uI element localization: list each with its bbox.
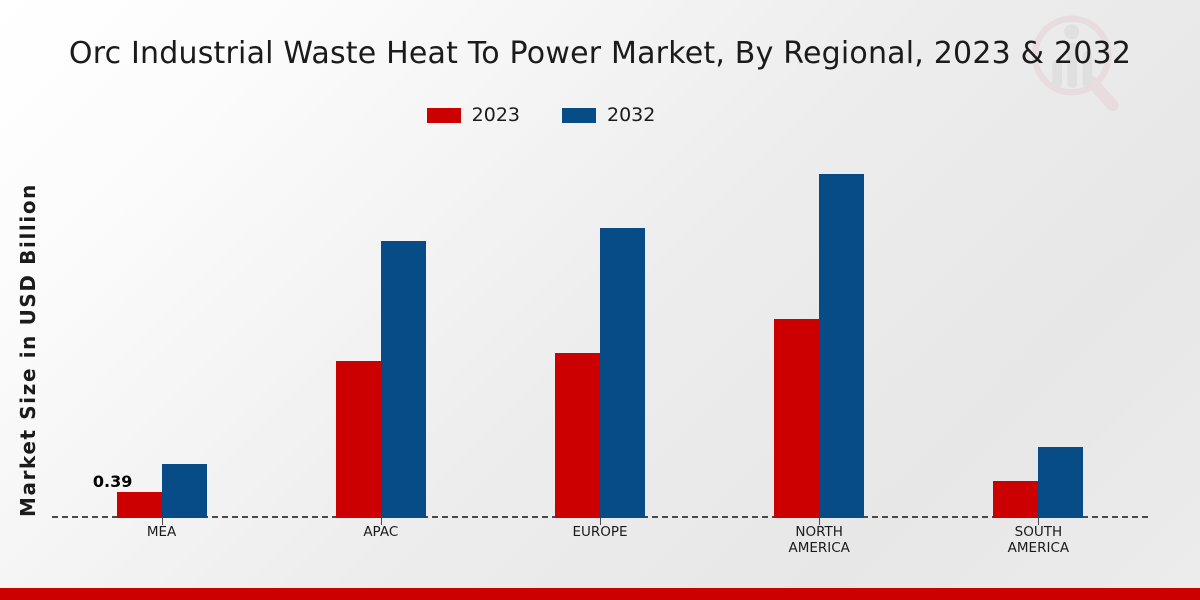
x-axis-label: EUROPE [572,524,627,540]
bar-2023[interactable] [336,361,381,518]
bottom-accent-bar [0,588,1200,600]
bar-2023[interactable] [774,319,819,518]
bar-2032[interactable] [162,464,207,518]
bar-group: APAC [271,140,490,518]
plot-area: 0.39MEAAPACEUROPENORTH AMERICASOUTH AMER… [52,140,1148,518]
legend-label-2023: 2023 [472,104,520,126]
x-axis-label: NORTH AMERICA [788,524,849,556]
bar-group: EUROPE [490,140,709,518]
legend-swatch-2032 [562,108,596,123]
x-axis-label: APAC [363,524,398,540]
legend-swatch-2023 [427,108,461,123]
x-axis-label: SOUTH AMERICA [1008,524,1069,556]
chart-legend: 2023 2032 [0,104,1200,126]
legend-item-2023[interactable]: 2023 [427,104,520,126]
bar-2032[interactable] [381,241,426,518]
chart-title: Orc Industrial Waste Heat To Power Marke… [0,36,1200,71]
bar-2023[interactable] [993,481,1038,518]
bar-2032[interactable] [1038,447,1083,518]
bar-group: 0.39MEA [52,140,271,518]
bar-2023[interactable] [117,492,162,518]
bar-group: NORTH AMERICA [710,140,929,518]
bar-group: SOUTH AMERICA [929,140,1148,518]
bar-2032[interactable] [600,228,645,518]
chart-page: Orc Industrial Waste Heat To Power Marke… [0,0,1200,600]
bar-2023[interactable] [555,353,600,518]
x-axis-label: MEA [147,524,176,540]
legend-label-2032: 2032 [607,104,655,126]
legend-item-2032[interactable]: 2032 [562,104,655,126]
bar-2032[interactable] [819,174,864,518]
y-axis-title: Market Size in USD Billion [16,170,40,530]
